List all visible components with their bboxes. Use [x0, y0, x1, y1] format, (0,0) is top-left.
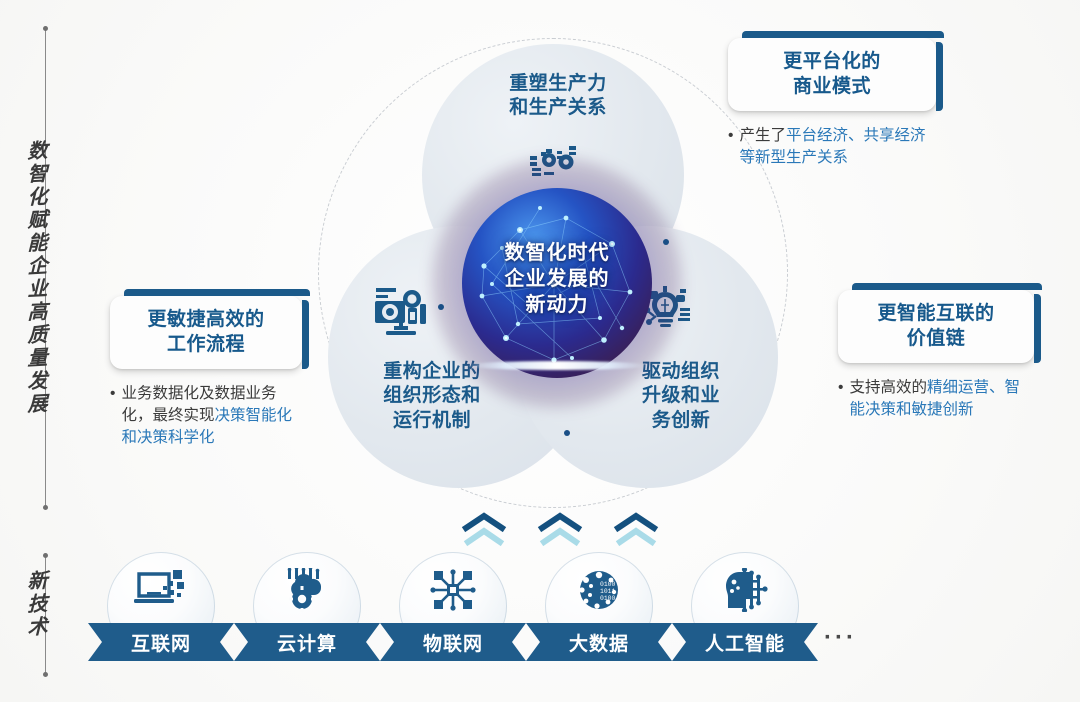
binary-line-2: 1011: [600, 588, 616, 595]
cloud-gear-icon: [234, 568, 380, 617]
sphere-reflection-base: [466, 361, 648, 370]
callout-title: 更平台化的 商业模式: [742, 50, 922, 99]
callout-box: 更敏捷高效的 工作流程: [110, 296, 302, 369]
callout-workflow[interactable]: 更敏捷高效的 工作流程 • 业务数据化及数据业务化，最终实现决策智能化和决策科学…: [110, 296, 302, 449]
callout-text-plain: 支持高效的: [849, 379, 927, 396]
tech-item-bigdata[interactable]: 0100 1011 0100 大数据: [526, 552, 672, 678]
orbit-dot: [663, 239, 669, 245]
bullet-marker: •: [728, 125, 733, 169]
callout-box: 更智能互联的 价值链: [838, 290, 1034, 363]
callout-text-plain: 产生了: [739, 127, 786, 144]
tech-item-iot[interactable]: 物联网: [380, 552, 526, 678]
bullet-marker: •: [110, 383, 115, 449]
venn-label-top: 重塑生产力 和生产关系: [468, 72, 648, 121]
orbit-dot: [438, 304, 444, 310]
axis-label-tech: 新技术: [22, 569, 51, 640]
binary-circle-icon: 0100 1011 0100: [526, 568, 672, 617]
callout-title: 更敏捷高效的 工作流程: [124, 308, 288, 357]
callout-title: 更智能互联的 价值链: [852, 302, 1020, 351]
callout-text: 支持高效的精细运营、智能决策和敏捷创新: [849, 377, 1034, 421]
center-network-sphere: 数智化时代 企业发展的 新动力: [462, 188, 652, 378]
iot-nodes-icon: [380, 568, 526, 617]
chevron-up-icon: [612, 512, 660, 550]
chevron-up-icon: [460, 512, 508, 550]
callout-box: 更平台化的 商业模式: [728, 38, 936, 111]
ai-head-icon: [672, 568, 818, 617]
tech-item-cloud[interactable]: 云计算: [234, 552, 380, 678]
laptop-network-icon: [88, 568, 234, 617]
chevron-up-icon: [536, 512, 584, 550]
callout-text: 产生了平台经济、共享经济等新型生产关系: [739, 125, 936, 169]
monitor-analytics-icon: [374, 286, 432, 341]
callout-text: 业务数据化及数据业务化，最终实现决策智能化和决策科学化: [121, 383, 302, 449]
tech-label: 互联网: [88, 623, 234, 661]
tech-item-internet[interactable]: 互联网: [88, 552, 234, 678]
callout-body: • 支持高效的精细运营、智能决策和敏捷创新: [838, 377, 1034, 421]
tech-label: 物联网: [380, 623, 526, 661]
tech-item-ai[interactable]: 人工智能: [672, 552, 818, 678]
binary-line-1: 0100: [600, 581, 616, 588]
orbit-dot: [564, 430, 570, 436]
callout-value-chain[interactable]: 更智能互联的 价值链 • 支持高效的精细运营、智能决策和敏捷创新: [838, 290, 1034, 421]
infographic-canvas: 数智化赋能企业高质量发展 新技术: [0, 0, 1080, 702]
binary-line-3: 0100: [600, 595, 616, 602]
technology-row: 互联网: [88, 552, 968, 678]
tech-label: 人工智能: [672, 623, 818, 661]
tech-label: 大数据: [526, 623, 672, 661]
upward-flow-chevrons: [460, 512, 660, 552]
tech-label: 云计算: [234, 623, 380, 661]
axis-label-digital: 数智化赋能企业高质量发展: [22, 139, 51, 417]
bullet-marker: •: [838, 377, 843, 421]
center-title: 数智化时代 企业发展的 新动力: [462, 240, 652, 318]
callout-body: • 业务数据化及数据业务化，最终实现决策智能化和决策科学化: [110, 383, 302, 449]
callout-platform-model[interactable]: 更平台化的 商业模式 • 产生了平台经济、共享经济等新型生产关系: [728, 38, 936, 169]
callout-body: • 产生了平台经济、共享经济等新型生产关系: [728, 125, 936, 169]
more-technologies-ellipsis: ···: [824, 626, 857, 650]
